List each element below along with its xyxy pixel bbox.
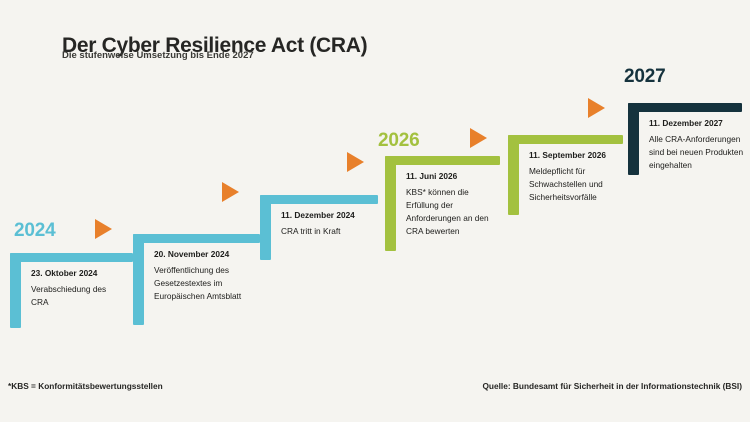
arrow-right-icon-3 bbox=[347, 152, 364, 172]
step-date: 11. Dezember 2027 bbox=[649, 118, 749, 128]
step-top-bar bbox=[133, 234, 260, 243]
timeline-step-5[interactable]: 11. September 2026 Meldepflicht für Schw… bbox=[508, 135, 623, 215]
arrow-right-icon-5 bbox=[588, 98, 605, 118]
step-top-bar bbox=[260, 195, 378, 204]
source-label: Quelle: Bundesamt für Sicherheit in der … bbox=[482, 381, 742, 391]
step-content: 11. Dezember 2024 CRA tritt in Kraft bbox=[281, 210, 391, 238]
step-description: Veröffentlichung des Gesetzestextes im E… bbox=[154, 264, 246, 303]
arrow-right-icon-1 bbox=[95, 219, 112, 239]
step-date: 11. Dezember 2024 bbox=[281, 210, 391, 220]
step-date: 20. November 2024 bbox=[154, 249, 264, 259]
step-content: 11. Juni 2026 KBS* können die Erfüllung … bbox=[406, 171, 506, 238]
timeline-step-2[interactable]: 20. November 2024 Veröffentlichung des G… bbox=[133, 234, 260, 325]
step-description: Verabschiedung des CRA bbox=[31, 283, 113, 309]
step-content: 11. Dezember 2027 Alle CRA-Anforderungen… bbox=[649, 118, 749, 172]
step-description: KBS* können die Erfüllung der Anforderun… bbox=[406, 186, 501, 238]
step-content: 11. September 2026 Meldepflicht für Schw… bbox=[529, 150, 633, 204]
arrow-right-icon-2 bbox=[222, 182, 239, 202]
arrow-right-icon-4 bbox=[470, 128, 487, 148]
footnote-kbs: *KBS = Konformitätsbewertungsstellen bbox=[8, 381, 163, 391]
step-description: CRA tritt in Kraft bbox=[281, 225, 381, 238]
step-date: 23. Oktober 2024 bbox=[31, 268, 136, 278]
infographic-canvas: Der Cyber Resilience Act (CRA) Die stufe… bbox=[0, 0, 750, 422]
step-left-bar bbox=[628, 103, 639, 175]
year-label-2026: 2026 bbox=[378, 130, 419, 152]
timeline-step-1[interactable]: 23. Oktober 2024 Verabschiedung des CRA bbox=[10, 253, 133, 328]
step-top-bar bbox=[508, 135, 623, 144]
step-content: 20. November 2024 Veröffentlichung des G… bbox=[154, 249, 264, 303]
step-date: 11. Juni 2026 bbox=[406, 171, 506, 181]
step-description: Alle CRA-Anforderungen sind bei neuen Pr… bbox=[649, 133, 745, 172]
step-left-bar bbox=[260, 195, 271, 260]
timeline-step-4[interactable]: 11. Juni 2026 KBS* können die Erfüllung … bbox=[385, 156, 500, 251]
step-description: Meldepflicht für Schwachstellen und Sich… bbox=[529, 165, 627, 204]
timeline-step-6[interactable]: 11. Dezember 2027 Alle CRA-Anforderungen… bbox=[628, 103, 742, 175]
step-top-bar bbox=[10, 253, 133, 262]
step-left-bar bbox=[508, 135, 519, 215]
step-date: 11. September 2026 bbox=[529, 150, 633, 160]
year-label-2024: 2024 bbox=[14, 220, 55, 242]
step-top-bar bbox=[385, 156, 500, 165]
timeline-step-3[interactable]: 11. Dezember 2024 CRA tritt in Kraft bbox=[260, 195, 378, 260]
step-content: 23. Oktober 2024 Verabschiedung des CRA bbox=[31, 268, 136, 309]
step-top-bar bbox=[628, 103, 742, 112]
page-subtitle: Die stufenweise Umsetzung bis Ende 2027 bbox=[62, 50, 254, 61]
year-label-2027: 2027 bbox=[624, 66, 665, 88]
step-left-bar bbox=[133, 234, 144, 325]
step-left-bar bbox=[385, 156, 396, 251]
step-left-bar bbox=[10, 253, 21, 328]
